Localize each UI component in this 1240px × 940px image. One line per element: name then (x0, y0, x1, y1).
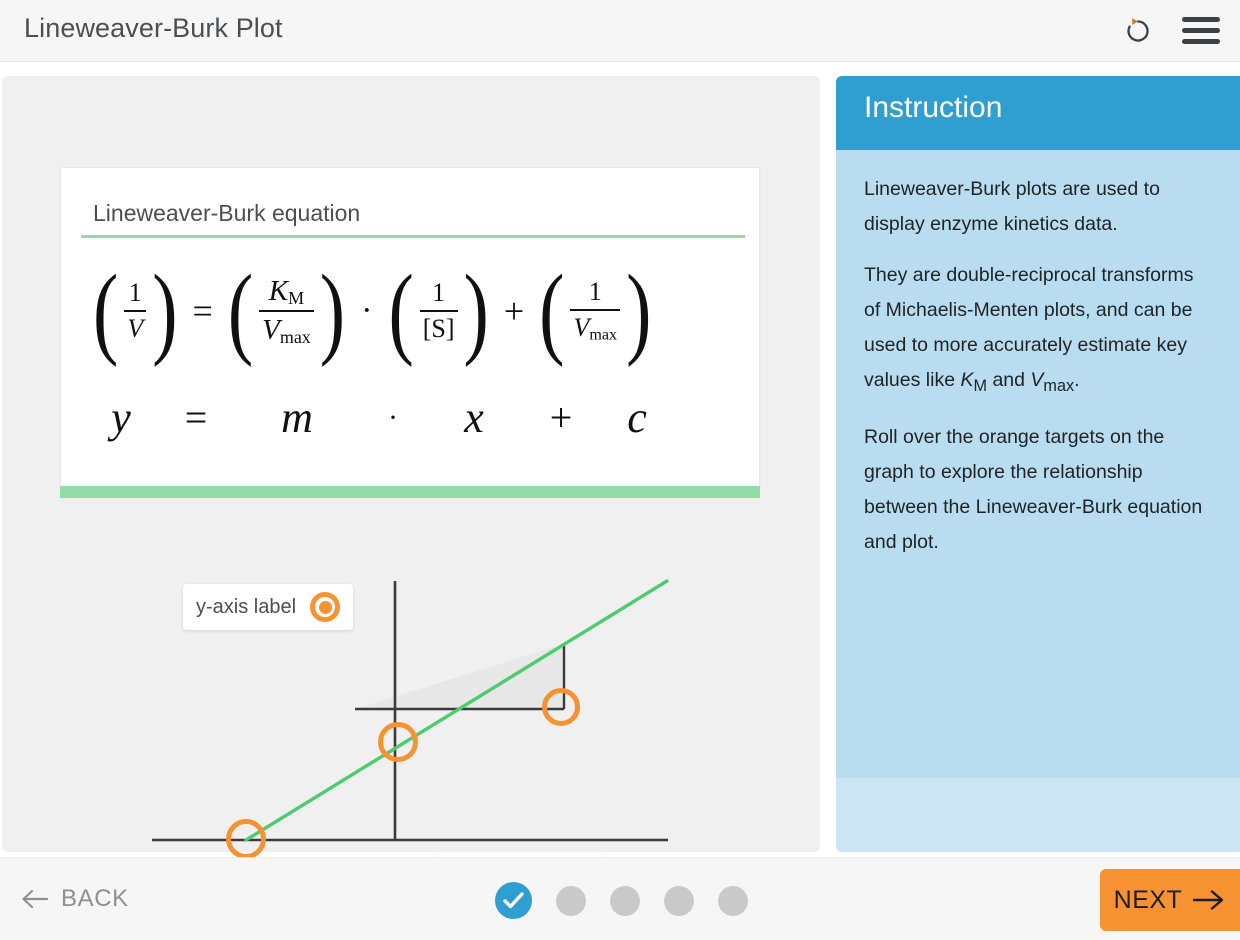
progress-dot-4[interactable] (664, 886, 694, 916)
paren-close-1: ) (152, 260, 177, 363)
menu-button[interactable] (1180, 14, 1222, 48)
instruction-paragraph-2: They are double-reciprocal transforms of… (864, 258, 1212, 404)
fraction-km-over-vmax: KM Vmax (259, 275, 314, 348)
fraction-bar (124, 310, 146, 312)
check-icon (503, 891, 524, 910)
progress-dot-1-completed[interactable] (495, 882, 532, 919)
fraction-bar (420, 310, 458, 312)
paragraph2-middle: and (987, 369, 1030, 391)
paren-open-4: ( (539, 260, 564, 363)
plus-sign-2: + (515, 398, 607, 438)
next-button[interactable]: NEXT (1100, 869, 1240, 931)
x-intercept-target-icon[interactable] (226, 819, 266, 859)
vmax-symbol: V (262, 314, 280, 346)
equation-row-reciprocal: ( 1 V ) = ( KM Vmax ) · ( 1 (91, 256, 731, 366)
fraction-denominator: Vmax (259, 314, 314, 348)
hamburger-bar-middle (1182, 28, 1220, 33)
symbol-c: c (607, 396, 667, 440)
paren-close-4: ) (626, 260, 651, 363)
symbol-x: x (433, 396, 515, 440)
progress-dot-2[interactable] (556, 886, 586, 916)
symbol-m: m (241, 396, 353, 440)
app-header: Lineweaver-Burk Plot (0, 0, 1240, 62)
vmax-subscript: max (280, 327, 311, 347)
symbol-y: y (91, 396, 151, 440)
plus-sign-1: + (504, 293, 524, 329)
instruction-panel-body: Lineweaver-Burk plots are used to displa… (836, 150, 1240, 778)
progress-dots (495, 882, 748, 919)
lineweaver-burk-graph: y-axis label x-axis label (42, 496, 782, 846)
app-footer: BACK NEXT (0, 857, 1240, 940)
instruction-paragraph-1: Lineweaver-Burk plots are used to displa… (864, 172, 1212, 242)
reset-button[interactable] (1120, 13, 1156, 49)
instruction-paragraph-3: Roll over the orange targets on the grap… (864, 420, 1212, 560)
fraction-denominator: [S] (420, 314, 458, 344)
vmax-symbol: V (573, 313, 589, 342)
fraction-one-over-vmax: 1 Vmax (570, 277, 620, 345)
equation-card-title: Lineweaver-Burk equation (93, 200, 360, 227)
instruction-panel-footer (836, 778, 1240, 852)
paren-open-3: ( (388, 260, 413, 363)
paren-open-1: ( (93, 260, 118, 363)
vmax-subscript: max (1043, 377, 1074, 395)
reset-rotate-ccw-icon (1120, 13, 1156, 49)
fraction-numerator: 1 (586, 277, 605, 307)
fraction-bar (570, 309, 620, 311)
instruction-heading: Instruction (864, 91, 1002, 125)
equation-row-linear: y = m · x + c (91, 378, 731, 458)
arrow-left-icon (20, 887, 50, 911)
y-axis-chip-label: y-axis label (196, 596, 296, 619)
paren-close-3: ) (464, 260, 489, 363)
km-subscript: M (288, 288, 304, 308)
equals-sign-2: = (151, 398, 241, 438)
equation-title-underline (81, 235, 745, 238)
y-axis-target-icon (310, 592, 340, 622)
fraction-numerator: KM (266, 275, 307, 309)
progress-dot-3[interactable] (610, 886, 640, 916)
slope-target-icon[interactable] (542, 688, 580, 726)
hamburger-bar-top (1182, 17, 1220, 22)
fraction-denominator: Vmax (570, 313, 620, 345)
instruction-panel-header: Instruction (836, 76, 1240, 150)
equals-sign-1: = (193, 293, 213, 329)
instruction-panel: Instruction Lineweaver-Burk plots are us… (836, 76, 1240, 852)
y-intercept-target-icon[interactable] (378, 722, 418, 762)
fraction-numerator: 1 (429, 278, 448, 308)
fraction-numerator: 1 (126, 278, 145, 308)
km-symbol: K (960, 369, 973, 391)
km-symbol: K (269, 275, 288, 307)
page-title: Lineweaver-Burk Plot (24, 13, 283, 44)
paragraph2-after: . (1074, 369, 1079, 391)
vmax-symbol: V (1030, 369, 1043, 391)
vmax-subscript: max (589, 326, 617, 343)
paren-close-2: ) (320, 260, 345, 363)
slope-triangle (355, 644, 564, 709)
hamburger-bar-bottom (1182, 39, 1220, 44)
fraction-one-over-s: 1 [S] (420, 278, 458, 343)
workspace: Lineweaver-Burk equation ( 1 V ) = ( KM … (0, 62, 1240, 857)
next-button-label: NEXT (1114, 886, 1183, 915)
fraction-bar (259, 310, 314, 312)
arrow-right-icon (1192, 888, 1226, 912)
fraction-denominator: V (124, 314, 146, 344)
graph-svg (42, 496, 782, 846)
multiply-dot-2: · (353, 403, 433, 433)
paren-open-2: ( (228, 260, 253, 363)
km-subscript: M (973, 377, 987, 395)
back-button-label: BACK (61, 885, 129, 913)
y-axis-label-chip[interactable]: y-axis label (183, 584, 353, 630)
fraction-one-over-v: 1 V (124, 278, 146, 343)
progress-dot-5[interactable] (718, 886, 748, 916)
back-button[interactable]: BACK (20, 878, 129, 920)
multiply-dot-1: · (361, 294, 372, 328)
equation-card: Lineweaver-Burk equation ( 1 V ) = ( KM … (60, 167, 760, 487)
stage-panel: Lineweaver-Burk equation ( 1 V ) = ( KM … (2, 76, 820, 852)
